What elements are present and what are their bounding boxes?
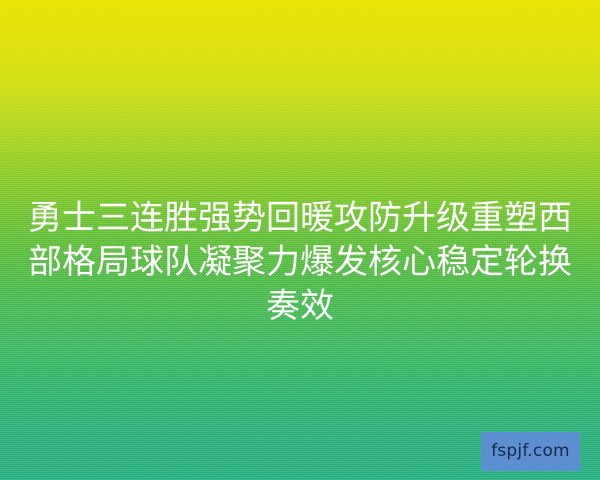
page-title: 勇士三连胜强势回暖攻防升级重塑西部格局球队凝聚力爆发核心稳定轮换奏效: [0, 196, 600, 328]
poster-canvas: 勇士三连胜强势回暖攻防升级重塑西部格局球队凝聚力爆发核心稳定轮换奏效 fspjf…: [0, 0, 600, 480]
watermark-label: fspjf.com: [491, 443, 570, 460]
watermark-badge: fspjf.com: [481, 432, 580, 471]
